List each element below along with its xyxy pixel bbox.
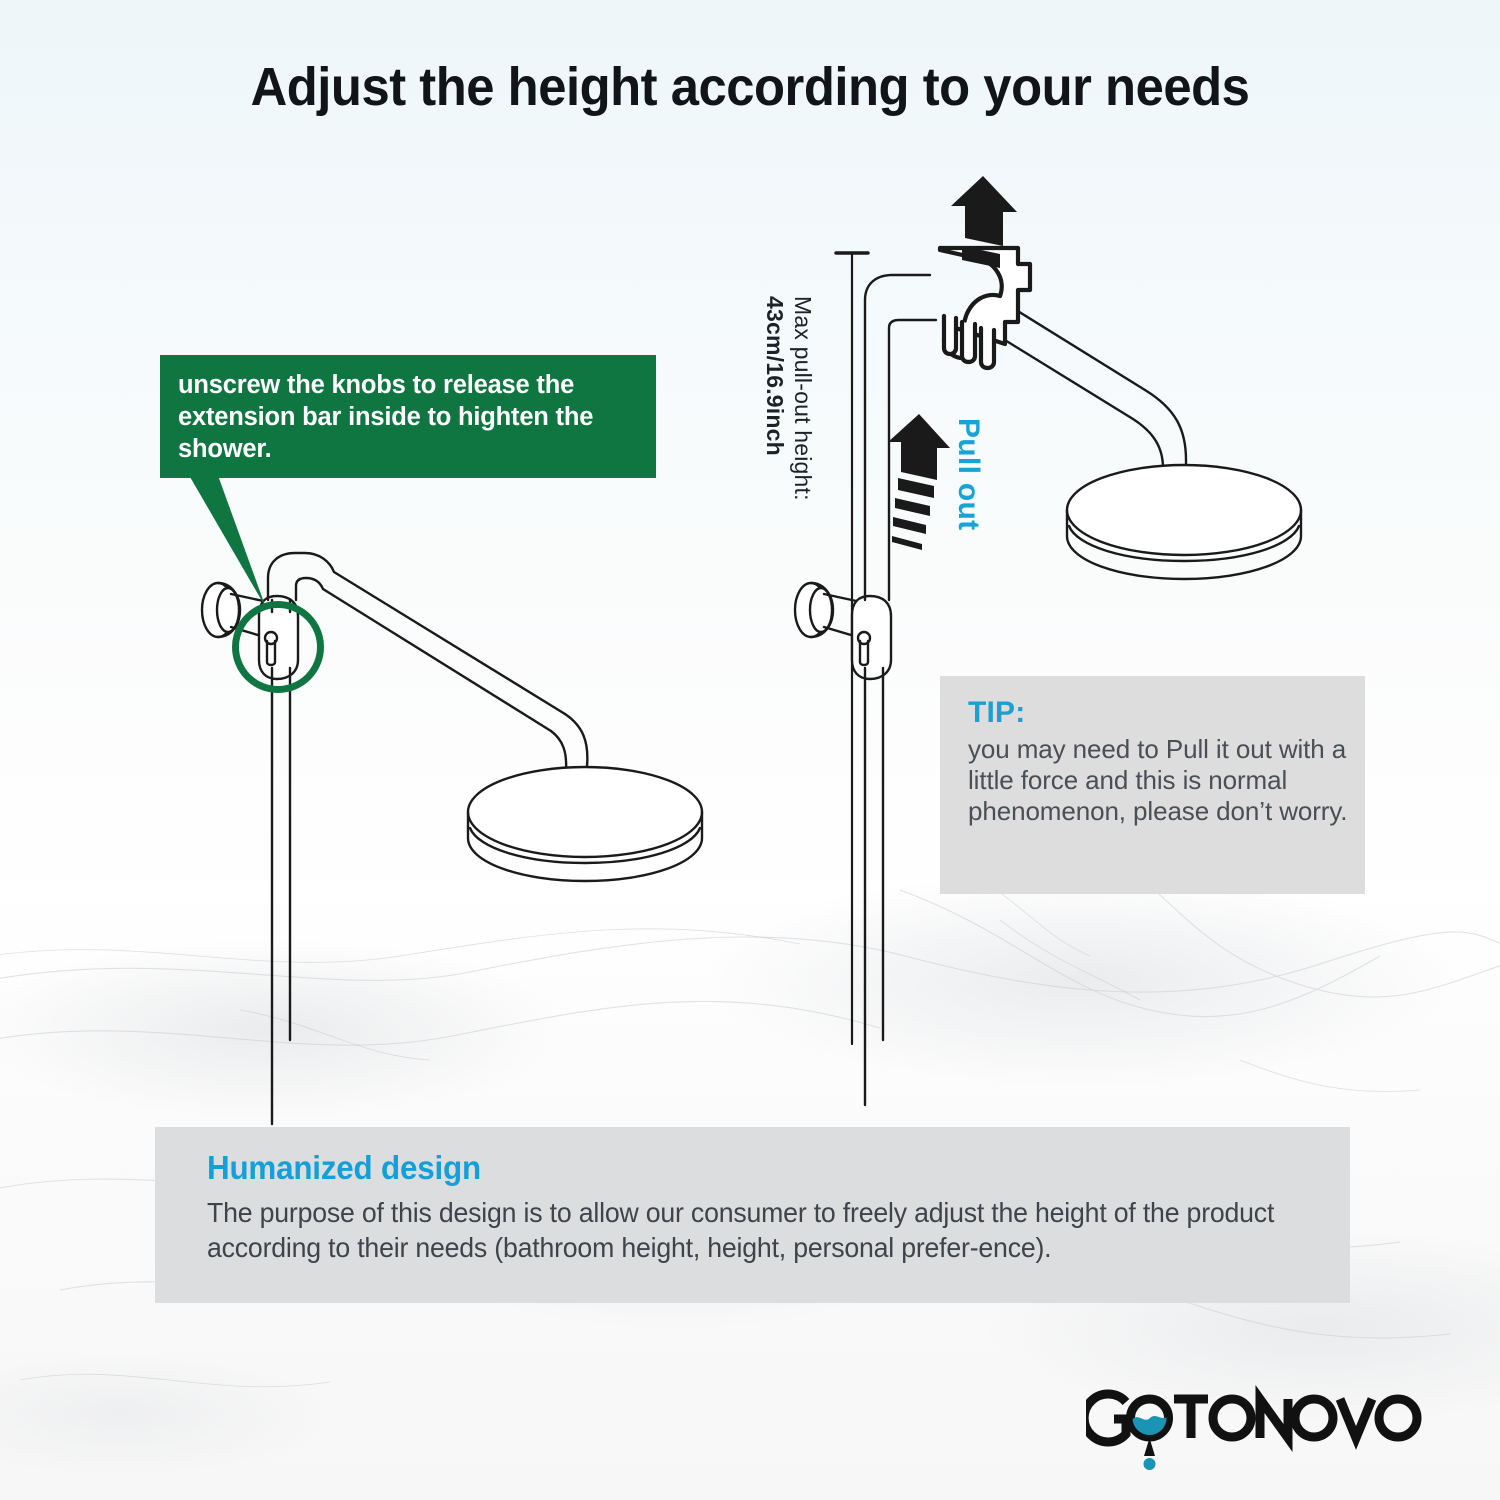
tip-heading: TIP: [968, 696, 1025, 730]
max-pullout-height-line2: 43cm/16.9inch [762, 296, 788, 456]
page-title: Adjust the height according to your need… [45, 56, 1455, 118]
pull-out-label: Pull out [951, 418, 985, 530]
tip-body-text: you may need to Pull it out with a littl… [968, 734, 1348, 827]
max-pullout-height-line1: Max pull-out height: [790, 296, 816, 501]
max-pullout-height-label: Max pull-out height: [789, 296, 816, 501]
humanized-design-box: Humanized design The purpose of this des… [155, 1127, 1350, 1303]
gotonovo-logo [1086, 1378, 1436, 1488]
green-callout-text: unscrew the knobs to release the extensi… [178, 369, 648, 465]
drop-bead [1144, 1458, 1156, 1470]
max-pullout-height-value: 43cm/16.9inch [761, 296, 788, 456]
green-instruction-callout: unscrew the knobs to release the extensi… [160, 355, 656, 478]
tip-box: TIP: you may need to Pull it out with a … [940, 676, 1365, 894]
humanized-design-body: The purpose of this design is to allow o… [207, 1195, 1284, 1265]
infographic-canvas: Adjust the height according to your need… [0, 0, 1500, 1500]
knob-highlight-circle [232, 601, 324, 693]
humanized-design-heading: Humanized design [207, 1149, 481, 1187]
